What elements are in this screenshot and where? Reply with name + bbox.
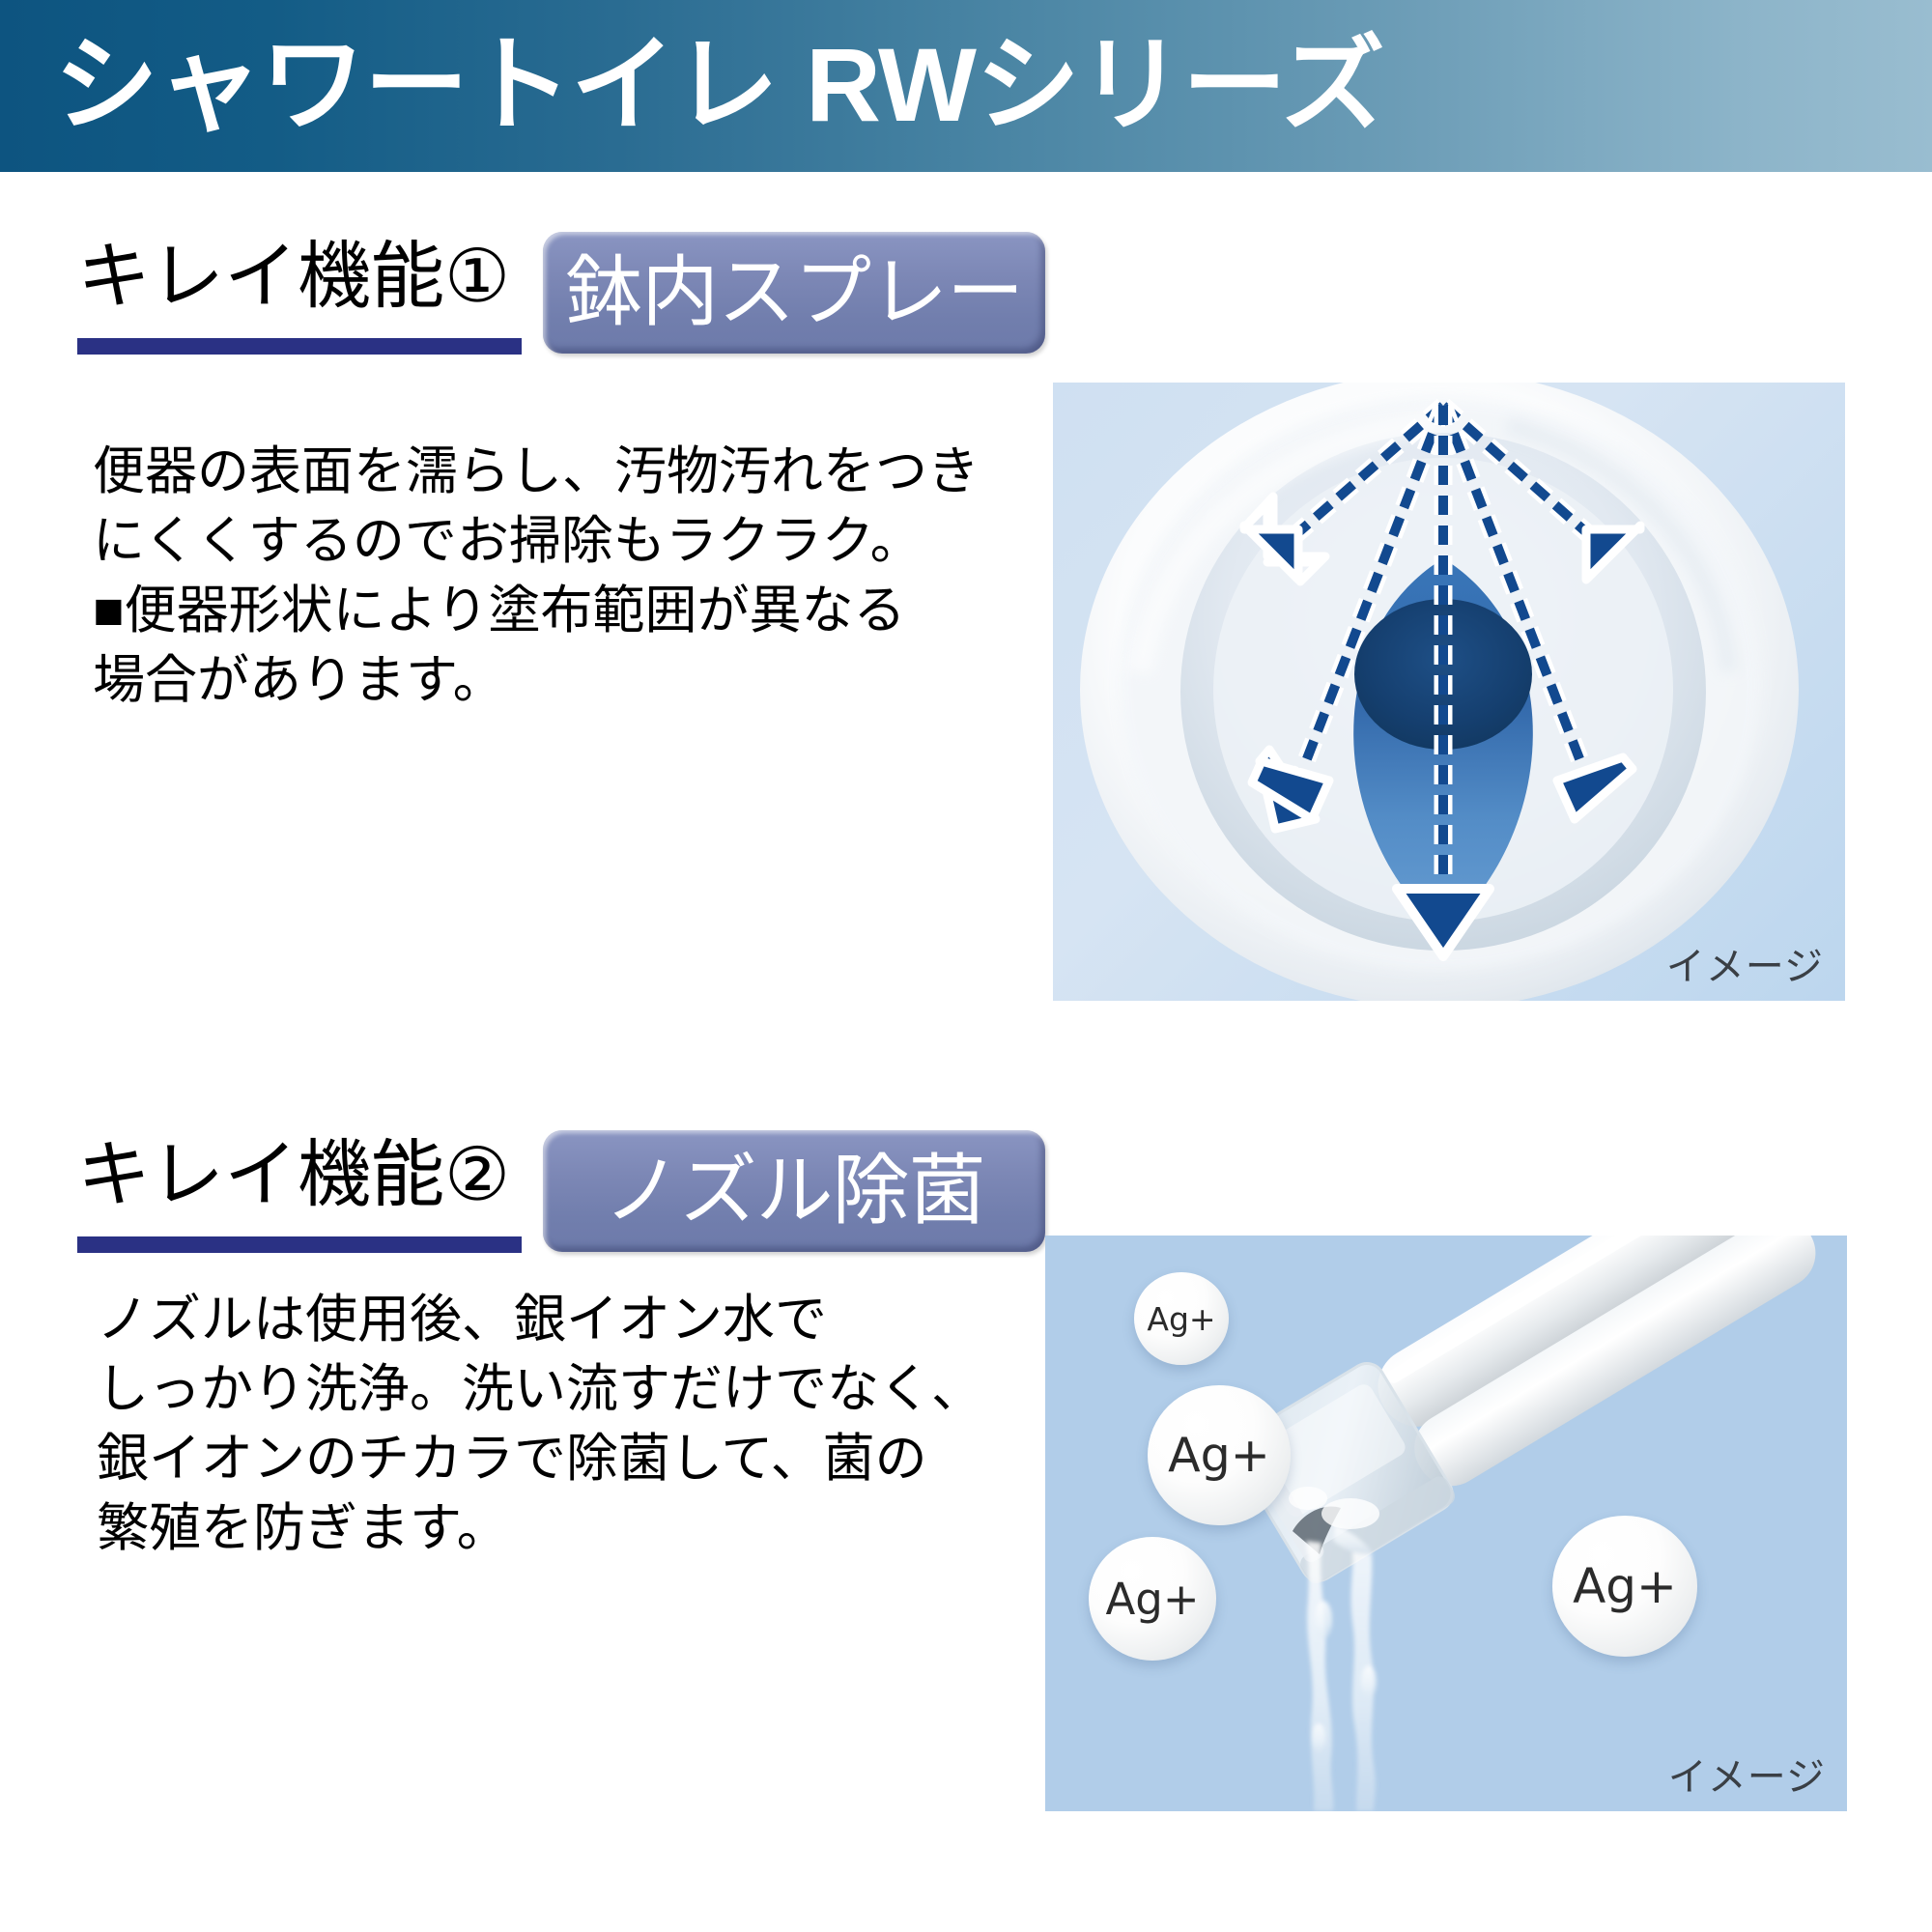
ion-sphere-label: Ag+ xyxy=(1105,1574,1199,1625)
ion-sphere: Ag+ xyxy=(1552,1516,1697,1657)
section-1-heading-block: キレイ機能① xyxy=(77,230,535,325)
section-1-badge: 鉢内スプレー xyxy=(543,232,1045,354)
ion-sphere: Ag+ xyxy=(1148,1385,1291,1525)
section-1-badge-label: 鉢内スプレー xyxy=(565,248,1023,337)
page-title: シャワートイレ RWシリーズ xyxy=(54,8,1384,162)
section-2-badge-label: ノズル除菌 xyxy=(604,1147,985,1236)
header-banner: シャワートイレ RWシリーズ xyxy=(0,0,1932,172)
section-2-heading-underline xyxy=(77,1236,522,1253)
section-1-heading-row: キレイ機能① 鉢内スプレー xyxy=(77,230,1045,354)
section-2-badge: ノズル除菌 xyxy=(543,1130,1045,1252)
toilet-bowl-illustration xyxy=(1053,383,1845,1001)
toilet-bowl-spray-photo: イメージ xyxy=(1053,383,1845,1001)
section-1-heading: キレイ機能① xyxy=(77,230,510,325)
nozzle-silver-ion-photo: Ag+ Ag+ Ag+ Ag+ イメージ xyxy=(1045,1236,1847,1811)
ion-sphere-label: Ag+ xyxy=(1168,1428,1270,1483)
ion-sphere: Ag+ xyxy=(1134,1272,1229,1365)
section-1-heading-underline xyxy=(77,338,522,355)
section-2-body-text: ノズルは使用後、銀イオン水で しっかり洗浄。洗い流すだけでなく、 銀イオンのチカ… xyxy=(97,1285,985,1563)
ion-sphere-label: Ag+ xyxy=(1147,1300,1215,1338)
feature-section-2: キレイ機能② ノズル除菌 ノズルは使用後、銀イオン水で しっかり洗浄。洗い流すだ… xyxy=(0,1070,1932,1920)
section-2-heading: キレイ機能② xyxy=(77,1128,510,1223)
ion-sphere-label: Ag+ xyxy=(1573,1558,1677,1614)
section-2-photo-caption: イメージ xyxy=(1668,1753,1826,1802)
section-1-body-text: 便器の表面を濡らし、汚物汚れをつき にくくするのでお掃除もラクラク。 ■便器形状… xyxy=(93,437,981,715)
section-2-heading-block: キレイ機能② xyxy=(77,1128,535,1223)
section-1-photo-caption: イメージ xyxy=(1666,943,1824,991)
feature-section-1: キレイ機能① 鉢内スプレー 便器の表面を濡らし、汚物汚れをつき にくくするのでお… xyxy=(0,172,1932,1070)
ion-sphere: Ag+ xyxy=(1089,1537,1216,1661)
section-2-heading-row: キレイ機能② ノズル除菌 xyxy=(77,1128,1045,1252)
